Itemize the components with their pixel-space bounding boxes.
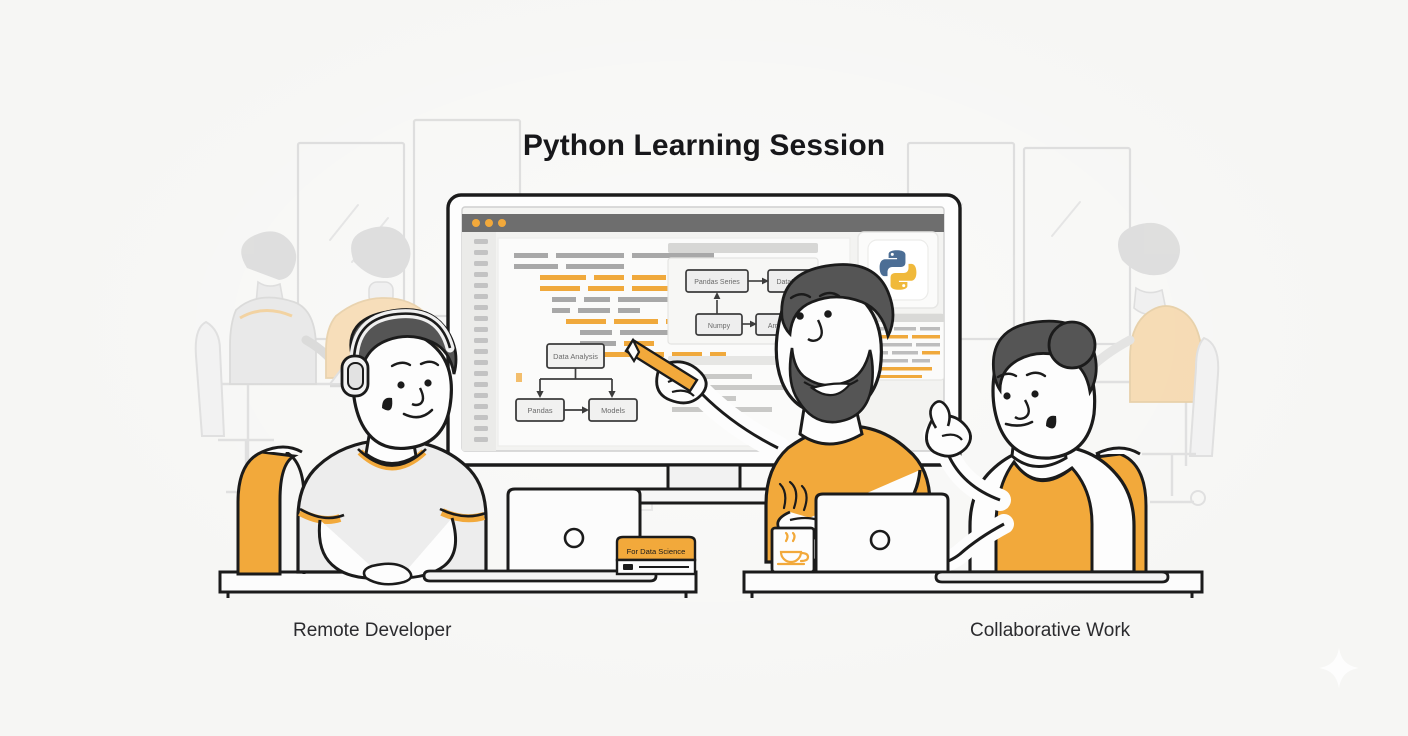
window-titlebar (462, 214, 944, 232)
flow-node-root-label: Data Analysis (553, 352, 598, 361)
scene-artwork: Data Analysis Pandas Models Pand (0, 0, 1408, 736)
caption-collaborative-work: Collaborative Work (970, 620, 1130, 642)
flow-node-right-label: Models (601, 406, 625, 415)
page-title: Python Learning Session (0, 129, 1408, 163)
sparkle-icon (1318, 647, 1360, 689)
eye-left (397, 381, 404, 388)
diagram-node-1-label: Pandas Series (694, 279, 740, 286)
titlebar-dot-1 (472, 219, 480, 227)
eye-right (424, 379, 431, 386)
diagram-node-3-label: Numpy (708, 323, 731, 330)
book-spine-label: For Data Science (627, 547, 686, 556)
titlebar-dot-2 (485, 219, 493, 227)
illustration-canvas: Python Learning Session (0, 0, 1408, 736)
caption-remote-developer: Remote Developer (293, 620, 451, 642)
book-stack: For Data Science (617, 537, 695, 574)
flow-node-left-label: Pandas (527, 406, 552, 415)
titlebar-dot-3 (498, 219, 506, 227)
